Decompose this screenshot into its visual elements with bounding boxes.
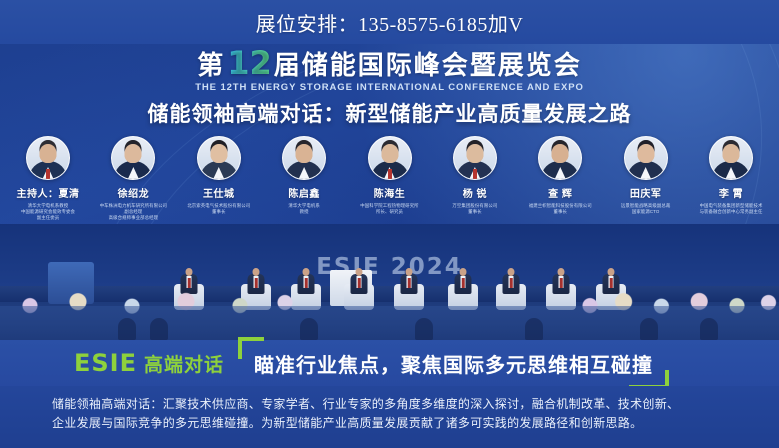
speaker-name: 杨 锐	[463, 185, 487, 200]
event-edition-number: 12	[225, 44, 274, 82]
speaker-org: 福建兰帜智能科技股份有限公司董事长	[529, 203, 592, 215]
esie-brand-cn: 高端对话	[144, 350, 224, 377]
esie-banner: ESIE 高端对话 瞄准行业焦点，聚焦国际多元思维相互碰撞	[0, 340, 779, 386]
speaker-org-line: 高级合规师事业部总经理	[100, 215, 167, 221]
bracket-top-left-icon	[238, 337, 264, 359]
speaker-org-line: 董事长	[529, 209, 592, 215]
speaker-org-line: 副主任委员	[21, 215, 75, 221]
avatar	[368, 136, 412, 180]
stage-photo: ESIE 2024	[0, 224, 779, 340]
speaker-card: 陈启鑫清华大学电机系教授	[262, 136, 346, 215]
speaker-org-line: 教授	[288, 209, 319, 215]
footer-line-1: 储能领袖高端对话：汇聚技术供应商、专家学者、行业专家的多角度多维度的深入探讨，融…	[52, 395, 727, 414]
speaker-card: 王仕城北京索英电气技术股份有限公司董事长	[177, 136, 261, 215]
event-logo-english: THE 12TH ENERGY STORAGE INTERNATIONAL CO…	[0, 82, 779, 93]
speaker-name: 主持人：夏清	[17, 185, 80, 200]
avatar	[111, 136, 155, 180]
speaker-list: 主持人：夏清清华大学电机系教授中国能源研究会能效专委会副主任委员徐绍龙中车株洲电…	[6, 136, 773, 218]
speaker-name: 田庆军	[630, 185, 662, 200]
avatar	[197, 136, 241, 180]
speaker-card: 徐绍龙中车株洲电力机车研究所有限公司副总经理高级合规师事业部总经理	[91, 136, 175, 221]
avatar	[538, 136, 582, 180]
event-logo-prefix: 第	[197, 50, 225, 80]
avatar	[624, 136, 668, 180]
speaker-name: 陈海生	[374, 185, 406, 200]
event-logo-main: 第12届储能国际峰会暨展览会	[0, 48, 779, 80]
speaker-card: 陈海生中国科学院工程热物理研究所所长、研究员	[348, 136, 432, 215]
speaker-org: 北京索英电气技术股份有限公司董事长	[187, 203, 250, 215]
speaker-card: 主持人：夏清清华大学电机系教授中国能源研究会能效专委会副主任委员	[6, 136, 90, 221]
session-title: 储能领袖高端对话：新型储能产业高质量发展之路	[0, 98, 779, 128]
speaker-name: 李 霄	[719, 185, 743, 200]
esie-headline: 瞄准行业焦点，聚焦国际多元思维相互碰撞	[254, 355, 653, 377]
footer-line-2: 企业发展与国际竞争的多元思维碰撞。为新型储能产业高质量发展贡献了诸多可实践的发展…	[52, 414, 727, 433]
speaker-org: 万空集团股份有限公司董事长	[452, 203, 497, 215]
speaker-card: 查 辉福建兰帜智能科技股份有限公司董事长	[518, 136, 602, 215]
speaker-name: 徐绍龙	[118, 185, 150, 200]
speaker-org-line: 与装备融合创新中心常务副主任	[700, 209, 763, 215]
esie-headline-wrap: 瞄准行业焦点，聚焦国际多元思维相互碰撞	[242, 349, 665, 378]
speaker-card: 田庆军远景智能战略高级副总裁国家能源CTO	[604, 136, 688, 215]
speaker-org: 远景智能战略高级副总裁国家能源CTO	[621, 203, 670, 215]
footer-description: 储能领袖高端对话：汇聚技术供应商、专家学者、行业专家的多角度多维度的深入探讨，融…	[0, 386, 779, 448]
event-logo: 第12届储能国际峰会暨展览会 THE 12TH ENERGY STORAGE I…	[0, 48, 779, 93]
avatar	[453, 136, 497, 180]
speaker-name: 陈启鑫	[288, 185, 320, 200]
esie-brand: ESIE	[74, 349, 137, 377]
speaker-card: 杨 锐万空集团股份有限公司董事长	[433, 136, 517, 215]
speaker-org: 中国科学院工程热物理研究所所长、研究员	[360, 203, 418, 215]
contact-strip: 展位安排：135-8575-6185加V	[0, 0, 779, 44]
event-logo-suffix: 届储能国际峰会暨展览会	[274, 50, 582, 80]
speaker-org-line: 国家能源CTO	[621, 209, 670, 215]
speaker-org-line: 董事长	[187, 209, 250, 215]
speaker-org-line: 所长、研究员	[360, 209, 418, 215]
avatar	[26, 136, 70, 180]
avatar	[709, 136, 753, 180]
speaker-org: 清华大学电机系教授	[288, 203, 319, 215]
speaker-org-line: 董事长	[452, 209, 497, 215]
stage-audience	[0, 306, 779, 340]
speaker-name: 王仕城	[203, 185, 235, 200]
conference-poster: 展位安排：135-8575-6185加V 第12届储能国际峰会暨展览会 THE …	[0, 0, 779, 448]
speaker-org: 中国电气装备集团新型储能技术与装备融合创新中心常务副主任	[700, 203, 763, 215]
contact-text: 展位安排：135-8575-6185加V	[256, 8, 524, 37]
speaker-card: 李 霄中国电气装备集团新型储能技术与装备融合创新中心常务副主任	[689, 136, 773, 215]
speaker-name: 查 辉	[548, 185, 572, 200]
speaker-org: 清华大学电机系教授中国能源研究会能效专委会副主任委员	[21, 203, 75, 221]
speaker-org: 中车株洲电力机车研究所有限公司副总经理高级合规师事业部总经理	[100, 203, 167, 221]
avatar	[282, 136, 326, 180]
